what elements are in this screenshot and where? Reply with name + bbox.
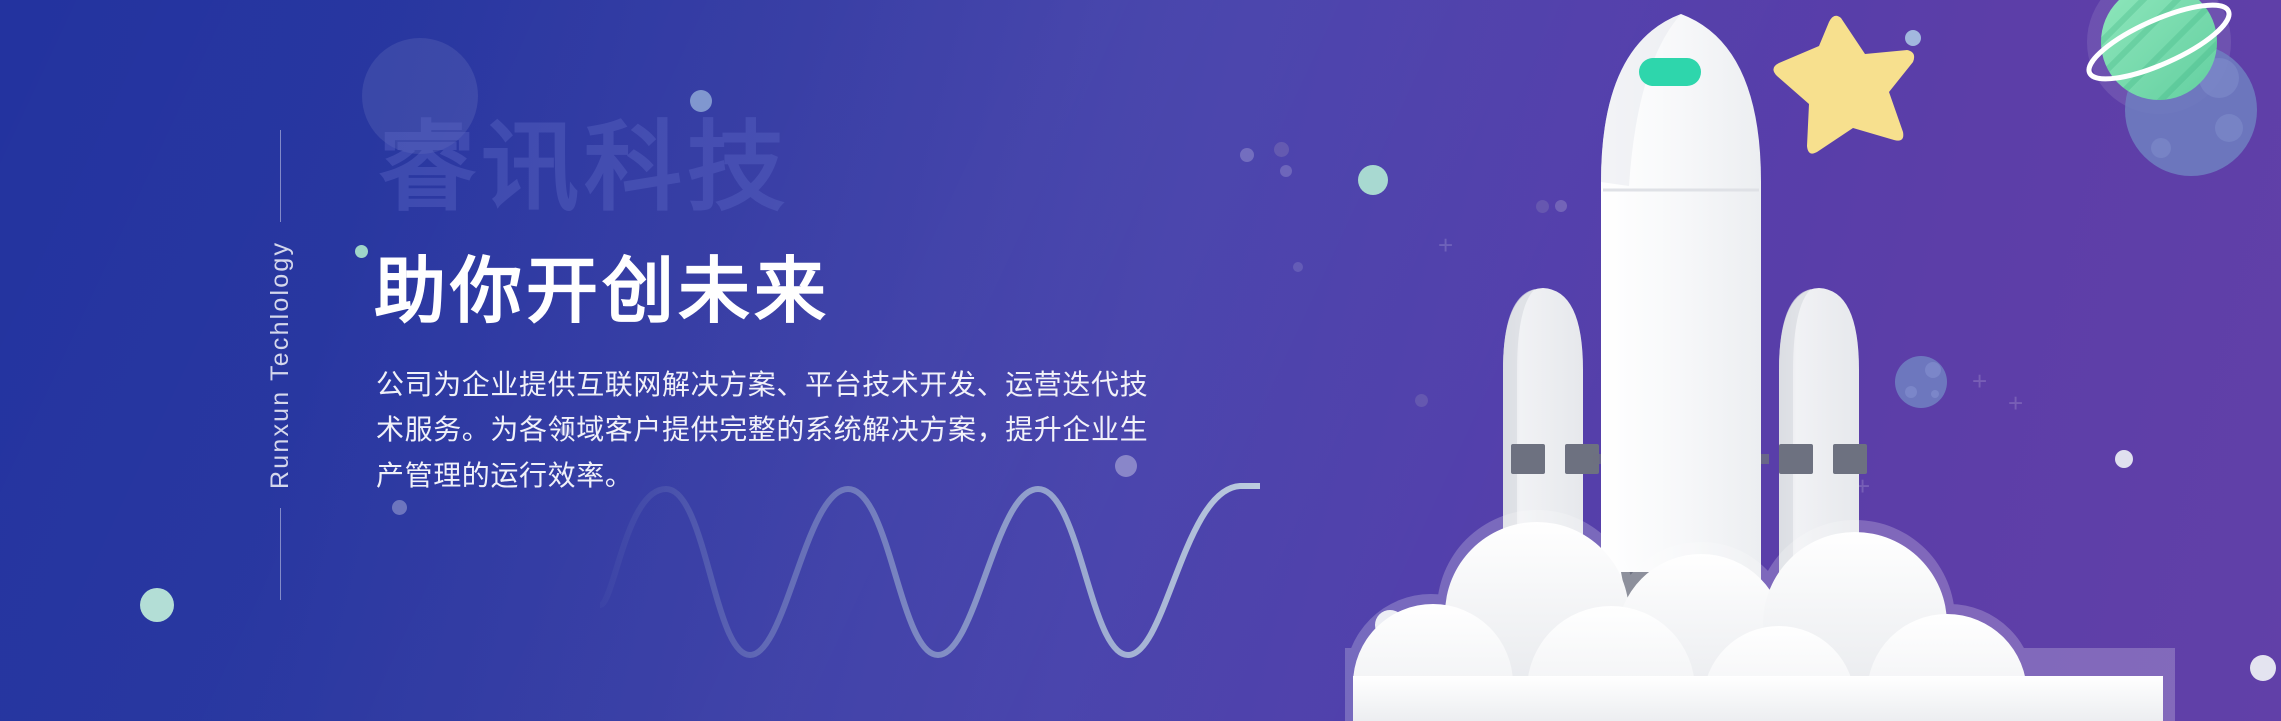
- hero-banner: + + + + + Runxun Techlology 睿讯科技 助你开创未来 …: [0, 0, 2281, 721]
- moon-icon: [1895, 356, 1947, 408]
- sine-wave-decoration: [600, 455, 1260, 685]
- rocket-illustration: [1281, 0, 2281, 721]
- page-title: 助你开创未来: [374, 254, 830, 332]
- ghost-title: 睿讯科技: [378, 118, 790, 216]
- star-icon: [1773, 16, 1914, 154]
- rocket-window: [1639, 58, 1701, 86]
